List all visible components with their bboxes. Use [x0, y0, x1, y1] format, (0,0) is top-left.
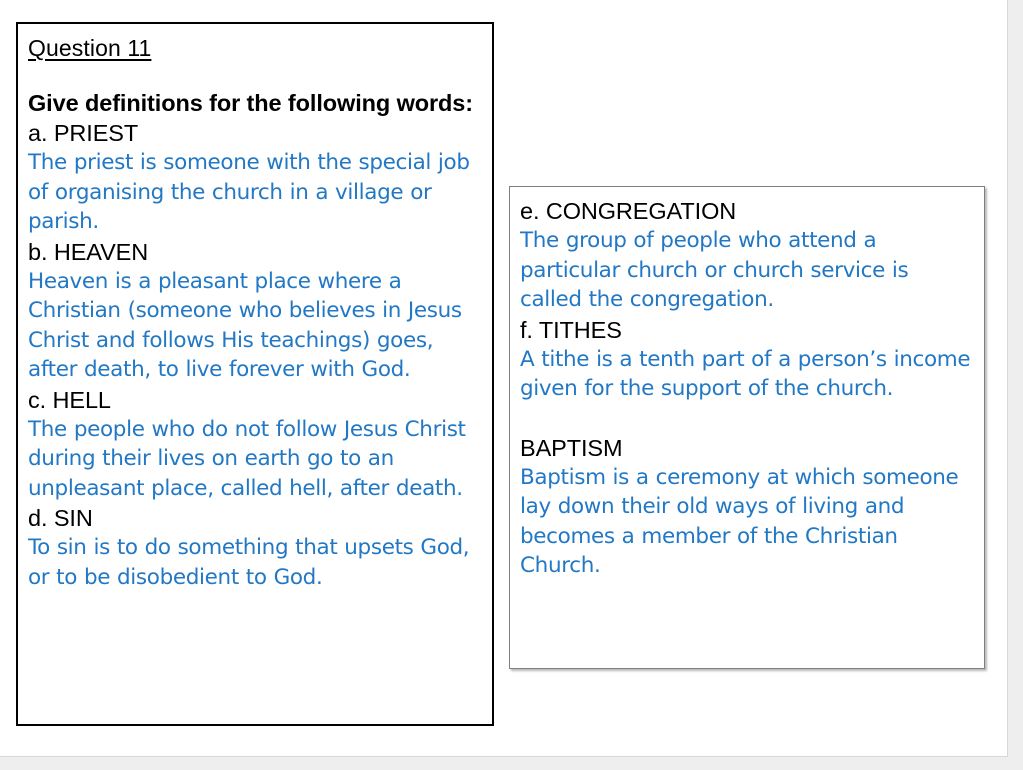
term-label-hell: c. HELL: [28, 385, 482, 415]
question-heading-wrapper: Question 11: [28, 33, 482, 89]
term-label-congregation: e. CONGREGATION: [520, 196, 974, 226]
page-sheet: Question 11 Give definitions for the fol…: [0, 0, 1008, 757]
term-label-baptism: BAPTISM: [520, 433, 974, 463]
definition-entry-priest: a. PRIEST The priest is someone with the…: [28, 118, 482, 237]
answer-text-priest[interactable]: The priest is someone with the special j…: [28, 148, 482, 237]
definitions-prompt: Give definitions for the following words…: [28, 89, 482, 118]
definition-entry-baptism: BAPTISM Baptism is a ceremony at which s…: [520, 433, 974, 581]
definition-entry-sin: d. SIN To sin is to do something that up…: [28, 503, 482, 592]
definition-entry-heaven: b. HEAVEN Heaven is a pleasant place whe…: [28, 237, 482, 385]
paragraph-spacer: [520, 404, 974, 433]
term-label-tithes: f. TITHES: [520, 315, 974, 345]
term-label-heaven: b. HEAVEN: [28, 237, 482, 267]
definition-entry-congregation: e. CONGREGATION The group of people who …: [520, 196, 974, 315]
question-heading: Question 11: [28, 33, 151, 63]
answer-text-hell[interactable]: The people who do not follow Jesus Chris…: [28, 415, 482, 504]
definition-entry-hell: c. HELL The people who do not follow Jes…: [28, 385, 482, 504]
term-label-priest: a. PRIEST: [28, 118, 482, 148]
answer-text-tithes[interactable]: A tithe is a tenth part of a person’s in…: [520, 345, 974, 404]
definition-entry-tithes: f. TITHES A tithe is a tenth part of a p…: [520, 315, 974, 404]
left-text-box[interactable]: Question 11 Give definitions for the fol…: [16, 22, 494, 726]
right-text-box[interactable]: e. CONGREGATION The group of people who …: [509, 186, 985, 669]
answer-text-congregation[interactable]: The group of people who attend a particu…: [520, 226, 974, 315]
answer-text-sin[interactable]: To sin is to do something that upsets Go…: [28, 533, 482, 592]
answer-text-baptism[interactable]: Baptism is a ceremony at which someone l…: [520, 463, 974, 581]
answer-text-heaven[interactable]: Heaven is a pleasant place where a Chris…: [28, 267, 482, 385]
term-label-sin: d. SIN: [28, 503, 482, 533]
